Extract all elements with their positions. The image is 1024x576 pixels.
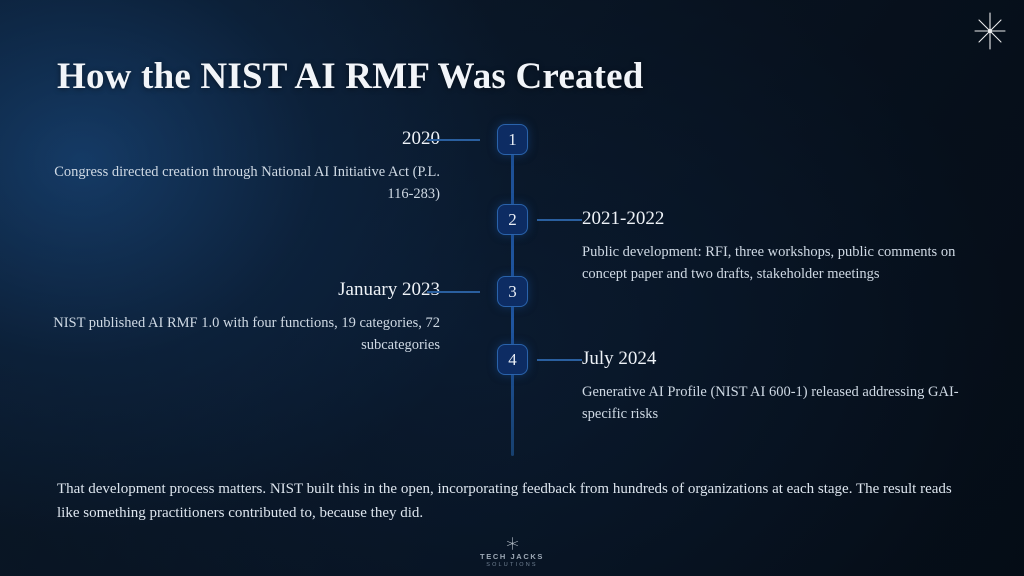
timeline-date-1: 2020 xyxy=(40,128,440,151)
star-mark-icon xyxy=(505,536,520,551)
timeline-item-4: July 2024 Generative AI Profile (NIST AI… xyxy=(582,348,982,425)
timeline-date-4: July 2024 xyxy=(582,348,982,371)
timeline-node-1[interactable]: 1 xyxy=(497,124,528,155)
timeline-connector-3 xyxy=(427,291,480,293)
timeline-node-2[interactable]: 2 xyxy=(497,204,528,235)
timeline-connector-2 xyxy=(537,219,582,221)
timeline-connector-4 xyxy=(537,359,582,361)
brand-name: TECH JACKS xyxy=(480,552,544,561)
timeline-connector-1 xyxy=(427,139,480,141)
timeline-item-3: January 2023 NIST published AI RMF 1.0 w… xyxy=(40,279,440,356)
timeline-item-1: 2020 Congress directed creation through … xyxy=(40,128,440,205)
timeline-node-3[interactable]: 3 xyxy=(497,276,528,307)
brand-subtitle: SOLUTIONS xyxy=(486,562,538,568)
footer-note: That development process matters. NIST b… xyxy=(57,477,972,526)
timeline-description-3: NIST published AI RMF 1.0 with four func… xyxy=(40,312,440,356)
slide-canvas: How the NIST AI RMF Was Created 1 2020 C… xyxy=(0,0,1024,576)
brand-logo: TECH JACKS SOLUTIONS xyxy=(0,536,1024,569)
timeline-item-2: 2021-2022 Public development: RFI, three… xyxy=(582,208,982,285)
timeline-node-4[interactable]: 4 xyxy=(497,344,528,375)
timeline-date-3: January 2023 xyxy=(40,279,440,302)
timeline-description-4: Generative AI Profile (NIST AI 600-1) re… xyxy=(582,381,982,425)
timeline-description-2: Public development: RFI, three workshops… xyxy=(582,241,982,285)
timeline-date-2: 2021-2022 xyxy=(582,208,982,231)
timeline-description-1: Congress directed creation through Natio… xyxy=(40,161,440,205)
